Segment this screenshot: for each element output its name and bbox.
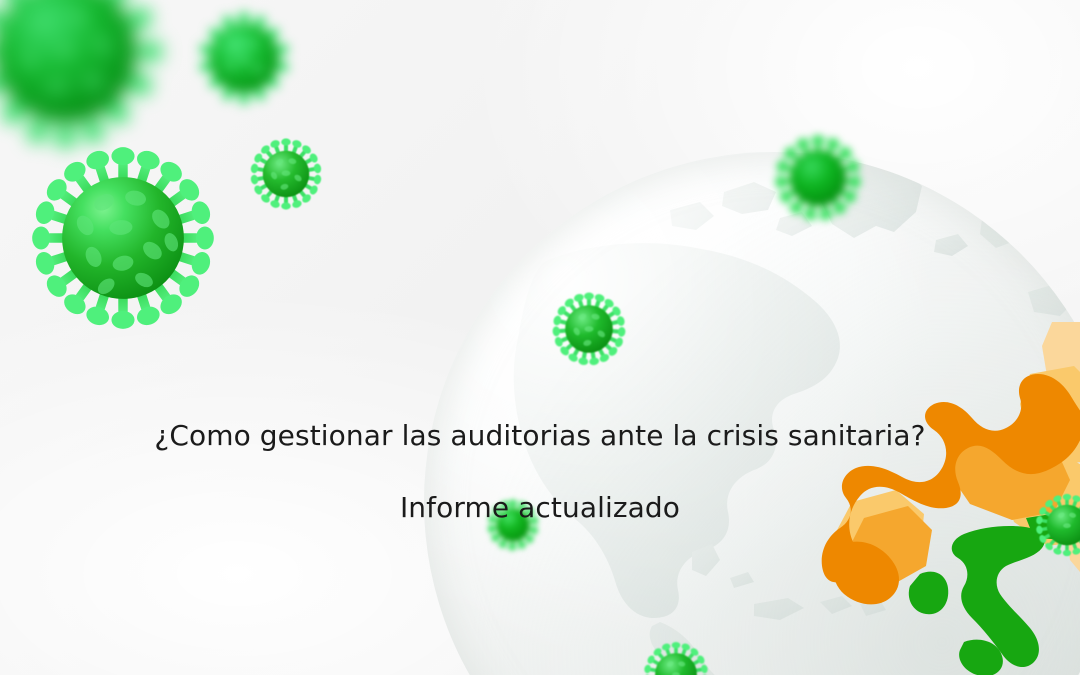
headline-line-1: ¿Como gestionar las auditorias ante la c… [0,418,1080,454]
headline-line-2: Informe actualizado [0,490,1080,526]
slide-canvas: ¿Como gestionar las auditorias ante la c… [0,0,1080,675]
region-contained-sardinia [909,572,948,615]
headline-block: ¿Como gestionar las auditorias ante la c… [0,382,1080,562]
